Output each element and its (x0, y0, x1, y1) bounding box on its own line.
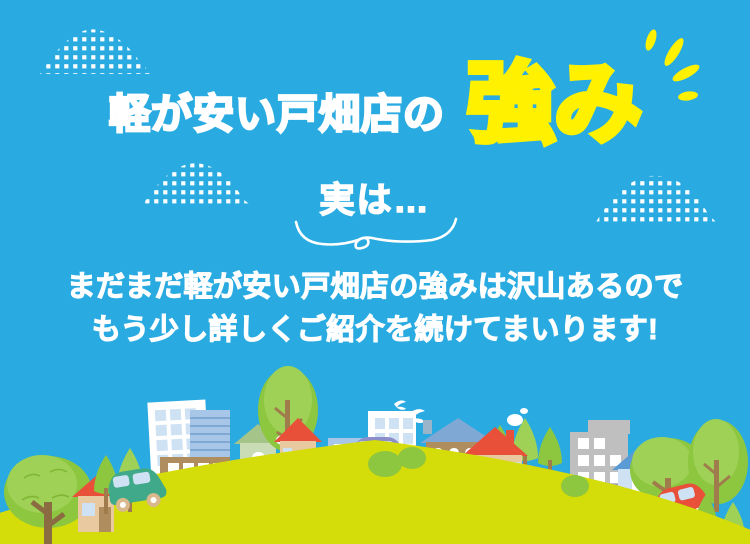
townscape-on-hill (0, 0, 750, 544)
promo-banner: 軽が安い戸畑店の強み 実は… まだまだ軽が安い戸畑店の強みは沢山あるので もう少… (0, 0, 750, 544)
